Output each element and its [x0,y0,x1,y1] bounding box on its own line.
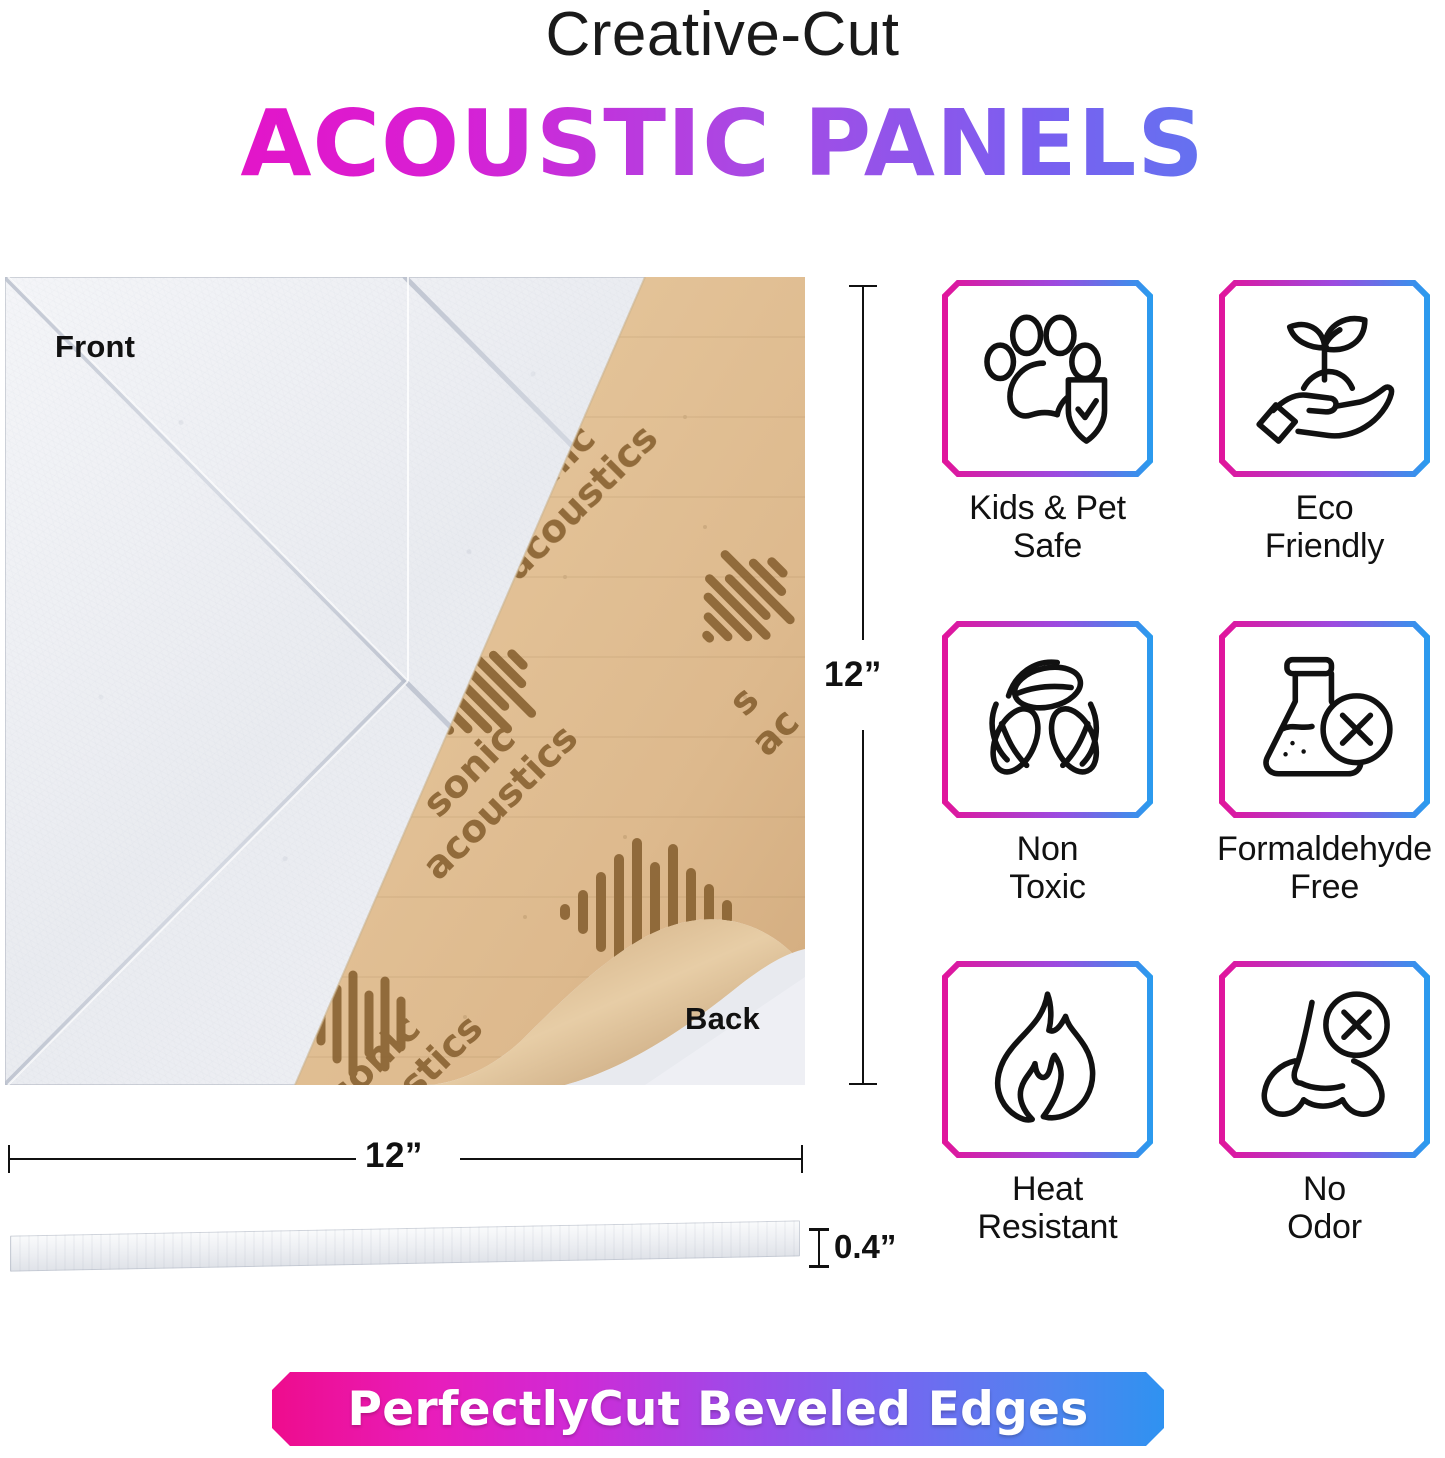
hand-sprout-icon [1241,302,1408,455]
feature-icon-box [1219,961,1430,1158]
feature-grid: Kids & Pet Safe [930,280,1442,1280]
feature-kids-pet-safe[interactable]: Kids & Pet Safe [930,280,1165,599]
back-label: Back [685,1001,760,1037]
flask-cross-icon [1241,643,1408,796]
feature-label: Eco Friendly [1265,489,1384,565]
feature-icon-box [1219,280,1430,477]
flame-icon [964,983,1131,1136]
feature-heat-resistant[interactable]: Heat Resistant [930,961,1165,1280]
feature-formaldehyde-free[interactable]: Formaldehyde Free [1207,621,1442,940]
feature-no-odor[interactable]: No Odor [1207,961,1442,1280]
recycle-leaves-icon [964,643,1131,796]
feature-non-toxic[interactable]: Non Toxic [930,621,1165,940]
height-dimension-label: 12” [824,655,882,695]
panel-edge-view [10,1220,800,1271]
feature-label: Heat Resistant [978,1170,1118,1246]
thickness-dimension-label: 0.4” [834,1228,896,1266]
thickness-dimension-line [818,1228,820,1268]
kraft-paper-liner: sonic acoustics sonic acoustics sonic ac… [5,277,805,1085]
width-dimension-label: 12” [365,1136,423,1176]
eyebrow-title: Creative-Cut [0,2,1445,67]
header: Creative-Cut ACOUSTIC PANELS [0,0,1445,250]
feature-label: No Odor [1287,1170,1362,1246]
feature-label: Non Toxic [1009,830,1085,906]
feature-icon-box [1219,621,1430,818]
product-panel-image: sonic acoustics sonic acoustics sonic ac… [5,277,805,1085]
feature-icon-box [942,621,1153,818]
feature-label: Formaldehyde Free [1217,830,1432,906]
bottom-banner: PerfectlyCut Beveled Edges [272,1372,1164,1446]
nose-cross-icon [1241,983,1408,1136]
page-title: ACOUSTIC PANELS [0,96,1445,193]
paw-shield-icon [964,302,1131,455]
feature-icon-box [942,280,1153,477]
front-label: Front [55,329,135,365]
feature-label: Kids & Pet Safe [969,489,1126,565]
banner-text: PerfectlyCut Beveled Edges [348,1382,1089,1437]
feature-eco-friendly[interactable]: Eco Friendly [1207,280,1442,599]
feature-icon-box [942,961,1153,1158]
